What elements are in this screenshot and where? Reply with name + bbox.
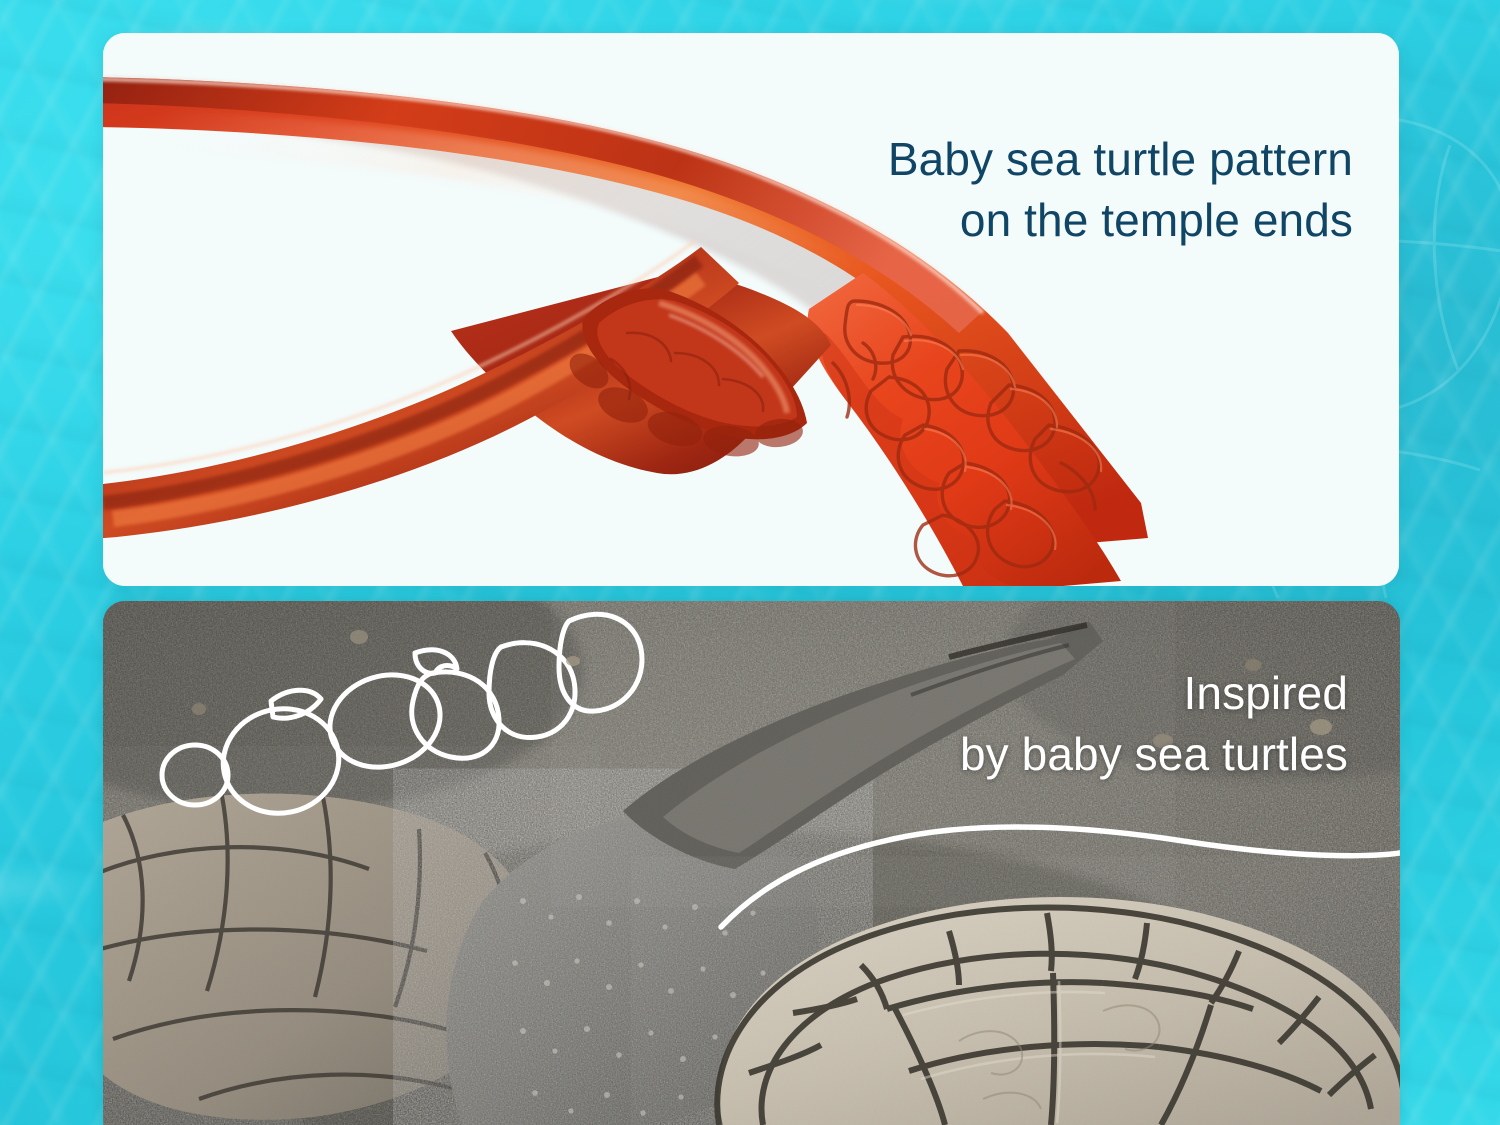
promo-graphic: Baby sea turtle pattern on the temple en…	[0, 0, 1500, 1125]
product-caption: Baby sea turtle pattern on the temple en…	[713, 129, 1353, 250]
turtle-panel: Inspired by baby sea turtles	[103, 601, 1400, 1125]
turtle-carapace	[703, 881, 1400, 1125]
turtle-caption: Inspired by baby sea turtles	[728, 663, 1348, 784]
sunglasses-temple-image	[103, 33, 1399, 586]
product-card: Baby sea turtle pattern on the temple en…	[103, 33, 1399, 586]
